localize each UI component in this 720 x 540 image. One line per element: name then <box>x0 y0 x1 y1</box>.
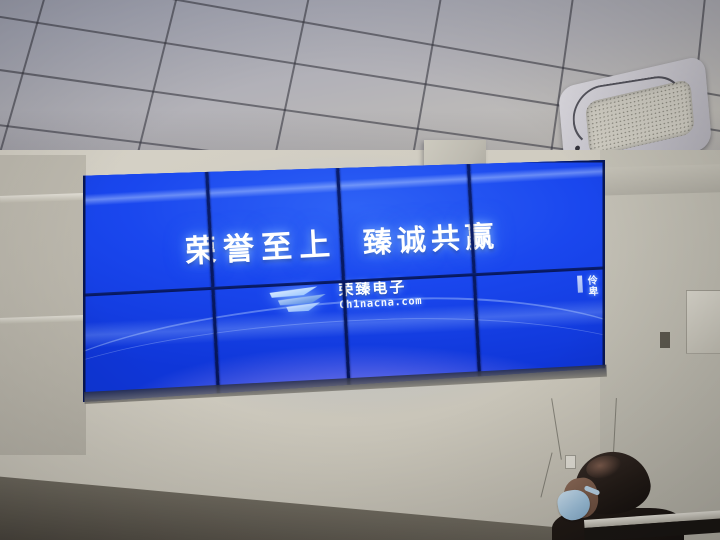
room-photo-scene: 荣誉至上臻诚共赢 <box>0 0 720 540</box>
wall-outlet <box>660 332 670 348</box>
lcd-video-wall[interactable]: 荣誉至上臻诚共赢 <box>83 160 605 402</box>
video-wall-outer-bezel <box>83 160 605 402</box>
wall-access-panel <box>686 290 720 354</box>
